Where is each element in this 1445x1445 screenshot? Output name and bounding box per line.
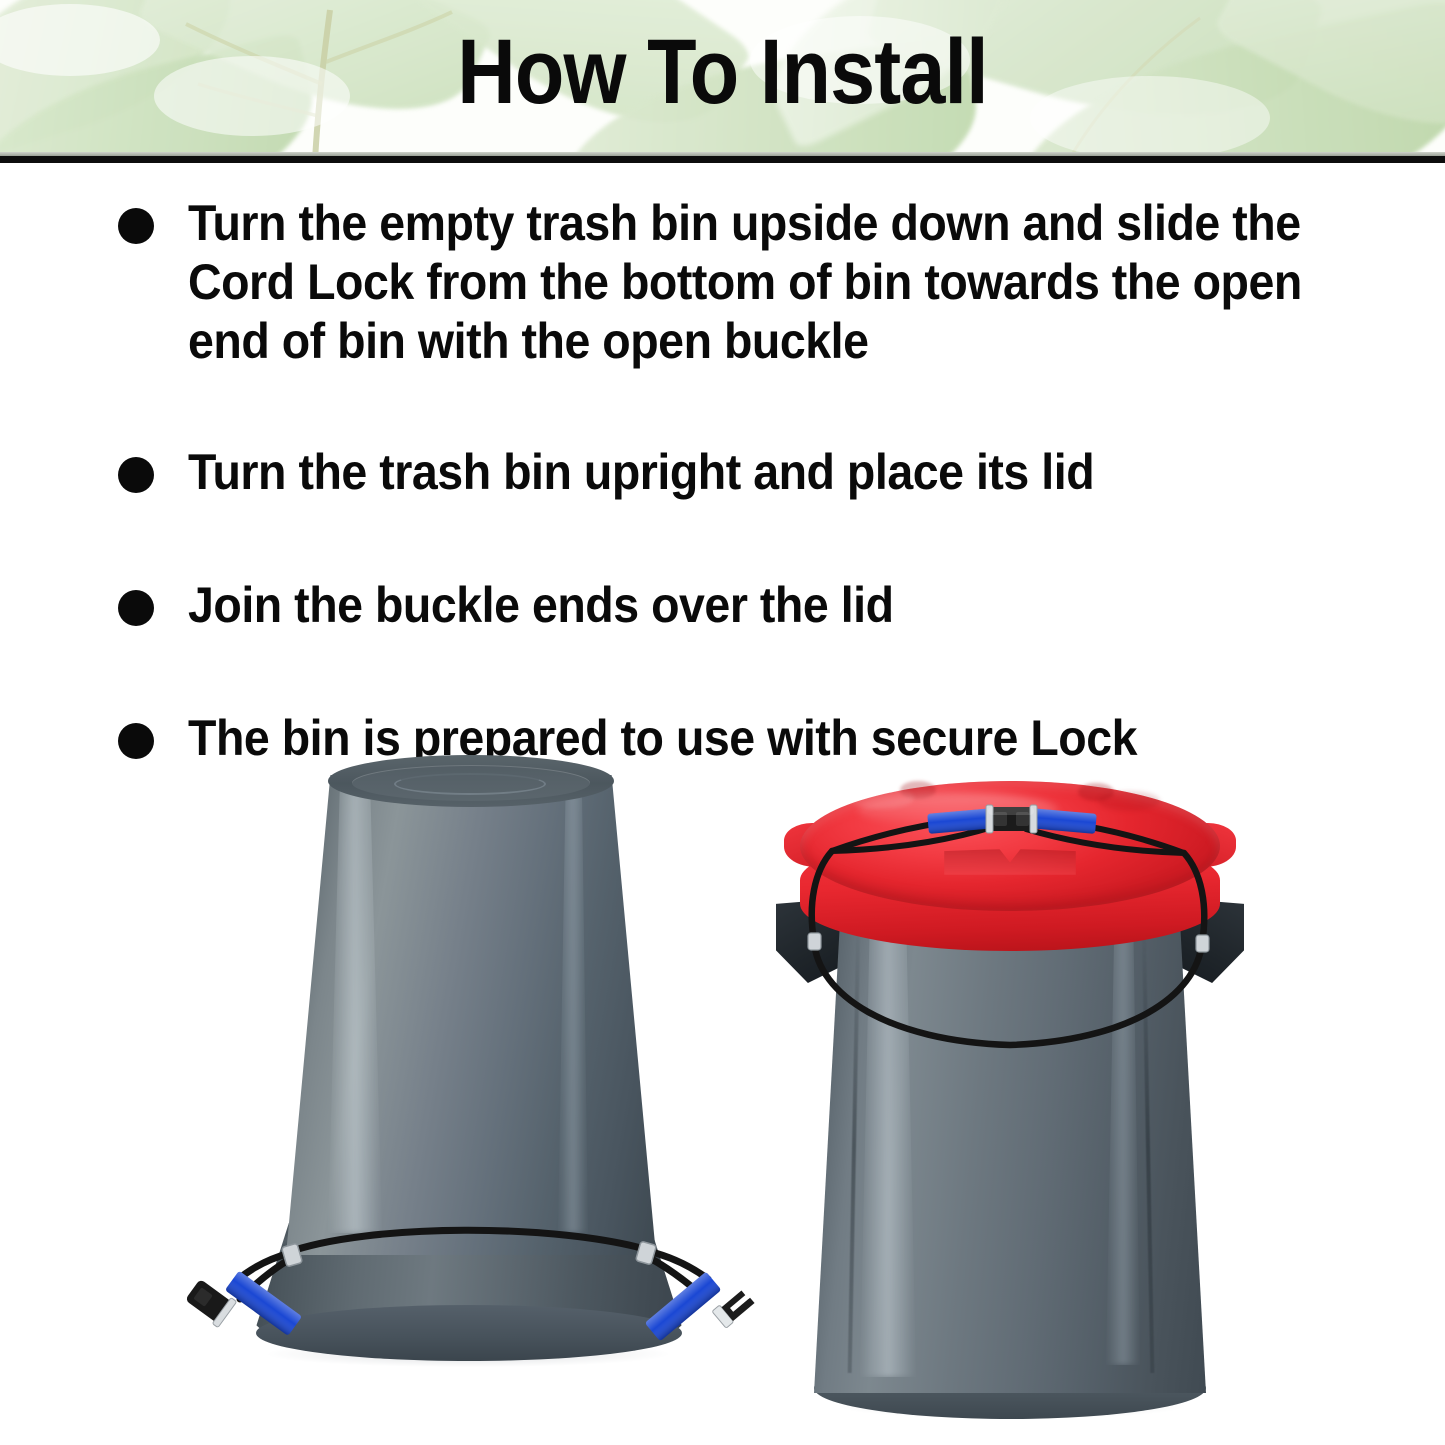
product-photo-bin-with-lid	[748, 745, 1268, 1425]
bullet-dot-icon	[118, 457, 154, 493]
bullet-dot-icon	[118, 208, 154, 244]
header-banner: How To Install	[0, 0, 1445, 158]
list-item: Join the buckle ends over the lid	[118, 578, 1388, 635]
cord-body-loop	[814, 941, 1202, 1045]
list-item: Turn the empty trash bin upside down and…	[118, 196, 1388, 371]
metal-crimp-left	[808, 933, 821, 950]
buckle-female-left	[183, 1276, 237, 1327]
cord-lock-assembly-left	[228, 753, 708, 1413]
metal-crimp-right	[1196, 935, 1209, 952]
instruction-list: Turn the empty trash bin upside down and…	[118, 196, 1388, 768]
header-divider	[0, 156, 1445, 163]
instruction-text: Turn the empty trash bin upside down and…	[188, 194, 1304, 371]
page-title: How To Install	[87, 24, 1359, 120]
instruction-text: Join the buckle ends over the lid	[188, 576, 894, 635]
product-photo-row	[0, 735, 1445, 1445]
cord-side-right	[1184, 853, 1204, 943]
cord-side-left	[812, 851, 832, 941]
instruction-text: Turn the trash bin upright and place its…	[188, 443, 1094, 502]
cord-around-rim	[286, 1230, 652, 1253]
buckle-joined-center	[986, 805, 1037, 833]
cord-lock-assembly-right	[748, 745, 1268, 1425]
infographic-page: How To Install Turn the empty trash bin …	[0, 0, 1445, 1445]
product-photo-upside-down-bin	[228, 753, 708, 1413]
bullet-dot-icon	[118, 590, 154, 626]
list-item: Turn the trash bin upright and place its…	[118, 445, 1388, 502]
